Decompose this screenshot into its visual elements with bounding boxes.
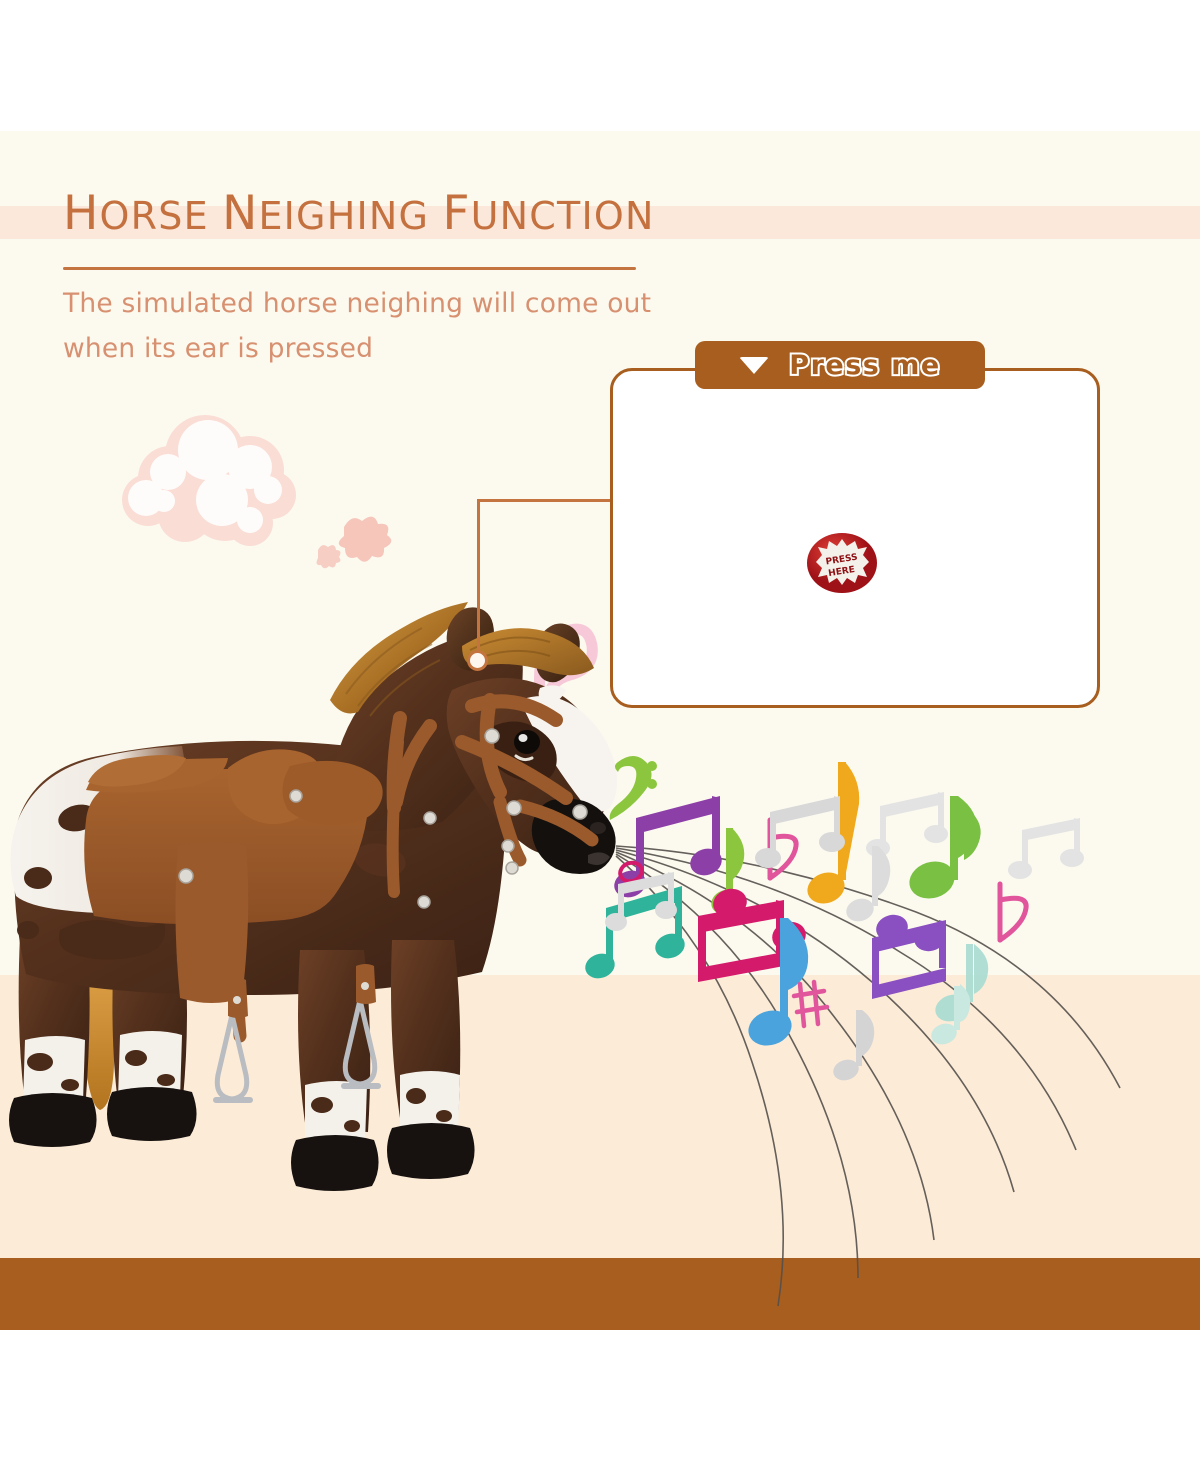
callout-anchor-dot [467, 650, 488, 671]
press-here-sticker[interactable]: PRESS HERE [806, 532, 878, 594]
callout-connector-vertical [477, 499, 480, 661]
title-part-5: UNCTION [471, 194, 655, 238]
bottom-accent-bar [0, 1258, 1200, 1330]
callout-connector-horizontal [477, 499, 612, 502]
subtitle-text: The simulated horse neighing will come o… [63, 281, 683, 371]
title-part-1: ORSE [100, 194, 223, 238]
page-title: HORSE NEIGHING FUNCTION [63, 186, 655, 241]
bottom-white-margin [0, 1330, 1200, 1466]
title-part-0: H [63, 186, 100, 241]
title-part-2: N [222, 186, 258, 241]
title-divider [63, 267, 636, 270]
press-me-badge[interactable]: Press me [695, 341, 985, 389]
ground-band [0, 975, 1200, 1258]
title-part-4: F [442, 186, 470, 241]
chevron-down-icon [739, 357, 769, 374]
title-part-3: EIGHING [258, 194, 442, 238]
infographic-stage: HORSE NEIGHING FUNCTION The simulated ho… [0, 0, 1200, 1466]
press-me-label: Press me [789, 350, 940, 381]
